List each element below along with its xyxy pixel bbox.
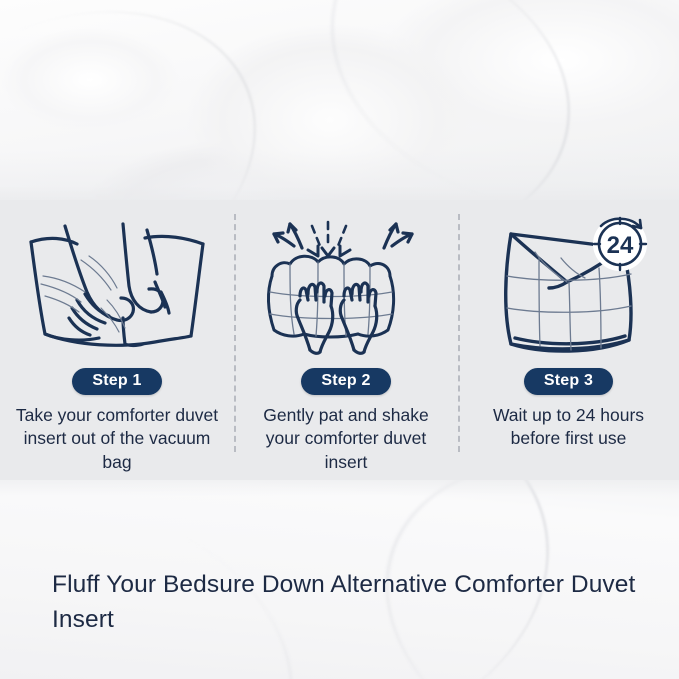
step-column-1: Step 1 Take your comforter duvet insert … xyxy=(0,212,234,482)
step-1-illustration xyxy=(25,212,210,362)
step-2-illustration xyxy=(256,212,436,362)
band-fade-top xyxy=(0,186,679,212)
folded-comforter-clock-icon: 24 xyxy=(481,212,656,362)
page-title: Fluff Your Bedsure Down Alternative Comf… xyxy=(52,568,664,638)
step-3-badge: Step 3 xyxy=(524,368,613,395)
steps-row: Step 1 Take your comforter duvet insert … xyxy=(0,212,679,482)
step-2-caption: Gently pat and shake your comforter duve… xyxy=(248,404,444,473)
step-column-2: Step 2 Gently pat and shake your comfort… xyxy=(234,212,458,482)
step-3-illustration: 24 xyxy=(481,212,656,362)
clock-badge-label: 24 xyxy=(607,232,634,259)
step-2-badge: Step 2 xyxy=(301,368,390,395)
step-1-badge: Step 1 xyxy=(72,368,161,395)
hands-pulling-comforter-icon xyxy=(25,212,210,362)
hands-patting-comforter-icon xyxy=(256,212,436,362)
step-1-caption: Take your comforter duvet insert out of … xyxy=(15,404,220,473)
infographic-canvas: Step 1 Take your comforter duvet insert … xyxy=(0,0,679,679)
step-column-3: 24 Step 3 Wait up to 24 hours before fir… xyxy=(458,212,679,482)
step-3-caption: Wait up to 24 hours before first use xyxy=(471,404,667,450)
